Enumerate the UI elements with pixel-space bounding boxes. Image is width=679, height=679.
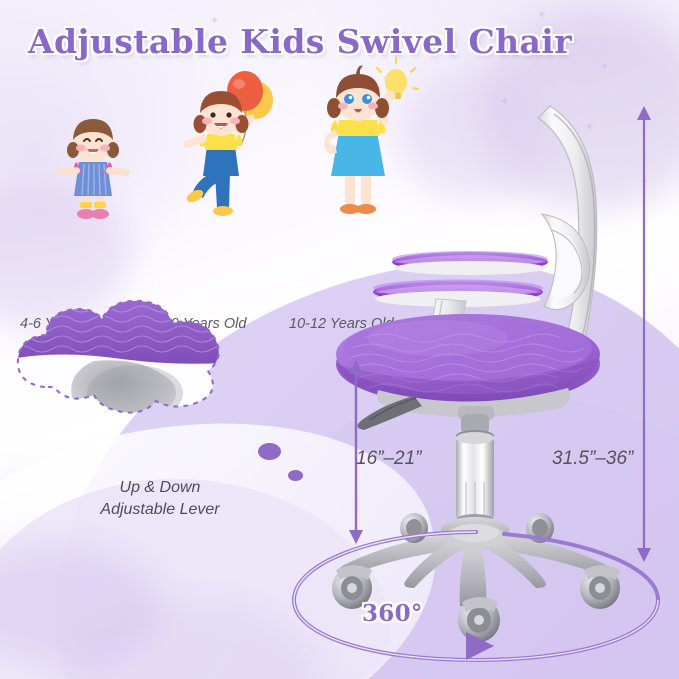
total-height-label: 31.5”–36” [552, 448, 633, 470]
lever-callout-line1: Up & Down [120, 479, 201, 496]
girl-striped-dress-icon [50, 110, 136, 222]
thought-bubble-dot [258, 443, 281, 460]
lever-callout-line2: Adjustable Lever [100, 501, 219, 518]
lightbulb-icon [374, 58, 418, 99]
armrest-pad-right [392, 251, 548, 275]
lever-callout-label: Up & Down Adjustable Lever [60, 477, 260, 520]
lever-callout [2, 275, 302, 465]
cloud-bubble-icon [2, 275, 302, 465]
girl-with-balloon-icon [171, 72, 281, 222]
product-infographic: ✦ ✦ ✦ ✦ ✦ ✦ ✦ Adjustable Kids Swivel Cha… [0, 0, 679, 679]
page-title: Adjustable Kids Swivel Chair [28, 22, 572, 61]
thought-bubble-dot [288, 470, 303, 481]
gas-lift-cylinder [456, 414, 494, 526]
rotation-label: 360° [362, 600, 423, 627]
sparkle-icon: ✦ [600, 60, 609, 73]
sparkle-icon: ✦ [537, 8, 546, 21]
total-height-arrow [626, 104, 662, 566]
rotation-ellipse-arrow-icon [286, 518, 666, 668]
seat-height-label: 16”–21” [356, 448, 422, 470]
